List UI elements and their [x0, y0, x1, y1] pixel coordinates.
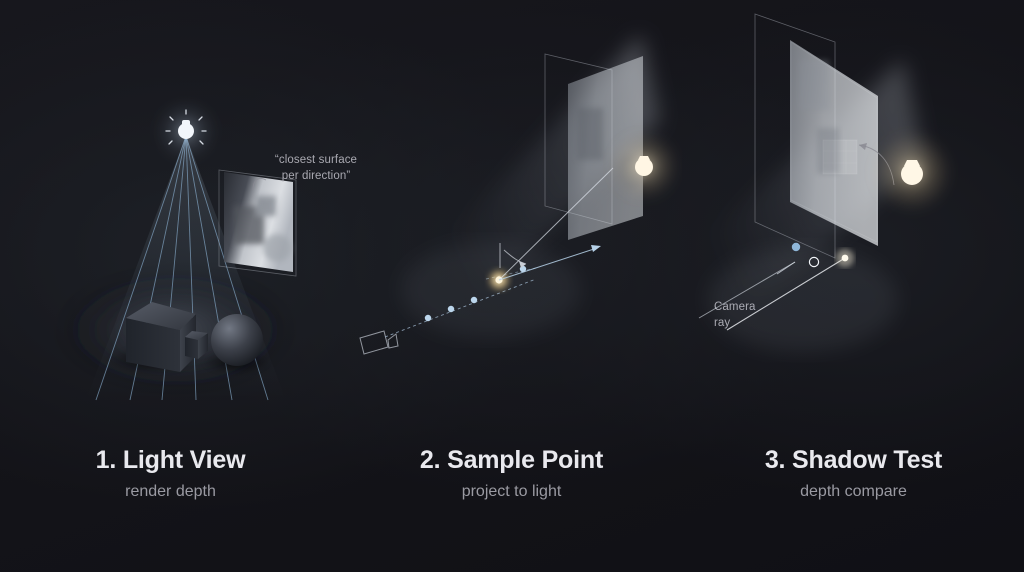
beam-haze — [401, 242, 581, 338]
panel-shadow-test: Sampling grid 3. Shadow Test depth compa… — [683, 0, 1024, 572]
caption-light-view: 1. Light View render depth — [0, 448, 341, 500]
panel-subtitle-light-view: render depth — [0, 484, 341, 500]
panel-subtitle-sample-point: project to light — [341, 484, 682, 500]
scene-sample-point — [341, 0, 682, 420]
caption-sample-point: 2. Sample Point project to light — [341, 448, 682, 500]
depth-map-plane — [219, 170, 296, 276]
panel-subtitle-shadow-test: depth compare — [683, 484, 1024, 500]
occluded-sample-dot — [792, 243, 800, 251]
sphere — [211, 314, 263, 366]
light-view-illustration — [0, 0, 341, 420]
panel-title-shadow-test: 3. Shadow Test — [683, 448, 1024, 473]
depth-sphere-blob — [263, 234, 291, 262]
panel-sample-point: Camera ray 2. Sample Point project to li… — [341, 0, 682, 572]
scene-light-view — [0, 0, 341, 420]
panel-light-view: “closest surface per direction” 1. Light… — [0, 0, 341, 572]
panel-title-light-view: 1. Light View — [0, 448, 341, 473]
panel-title-sample-point: 2. Sample Point — [341, 448, 682, 473]
floor-haze — [708, 248, 898, 352]
figure-canvas: “closest surface per direction” 1. Light… — [0, 0, 1024, 572]
scene-shadow-test — [683, 0, 1024, 420]
lit-texel — [842, 255, 849, 262]
caption-shadow-test: 3. Shadow Test depth compare — [683, 448, 1024, 500]
sample-point-illustration — [341, 0, 682, 420]
shadow-test-illustration — [683, 0, 1024, 420]
